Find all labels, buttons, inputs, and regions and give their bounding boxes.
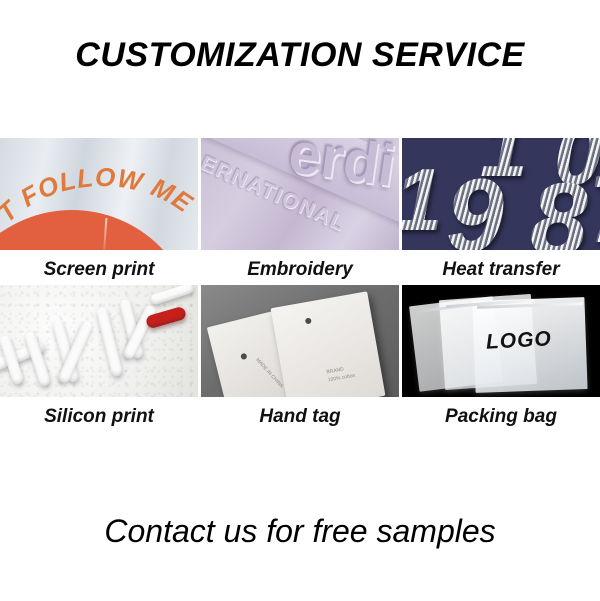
packing-bag-image: LOGO (402, 285, 600, 397)
heat-transfer-digit: 1 (402, 156, 443, 244)
hang-tag-hole (305, 317, 312, 324)
service-label-hand-tag: Hand tag (201, 397, 399, 428)
embroidery-image: erdi ERNATIONAL (201, 138, 399, 250)
customization-service-poster: CUSTOMIZATION SERVICE N'T FOLLOW ME (0, 0, 600, 601)
service-card-hand-tag[interactable]: MADE IN CHINA BRAND100% cotton Hand tag (201, 285, 399, 428)
footer-cta: Contact us for free samples (0, 513, 600, 550)
heat-transfer-digit: 7 (588, 162, 600, 250)
svg-text:N'T FOLLOW ME: N'T FOLLOW ME (0, 162, 198, 249)
gallery-row-2: Silicon print MADE IN CHINA BRAND100% co… (0, 285, 600, 428)
heat-transfer-digit: 8 (530, 168, 588, 250)
heat-transfer-digit: 9 (446, 164, 504, 250)
hang-tag-card: BRAND100% cotton (271, 291, 386, 397)
embroidery-script-text: erdi (285, 138, 399, 200)
service-label-packing-bag: Packing bag (402, 397, 600, 428)
heat-transfer-image: 1 0 1 9 8 7 (402, 138, 600, 250)
hang-tag-hole (240, 353, 247, 360)
service-label-embroidery: Embroidery (201, 250, 399, 281)
arc-text-graphic: N'T FOLLOW ME (0, 138, 198, 250)
service-card-silicon-print[interactable]: Silicon print (0, 285, 198, 428)
service-card-packing-bag[interactable]: LOGO Packing bag (402, 285, 600, 428)
service-card-screen-print[interactable]: N'T FOLLOW ME Screen print (0, 138, 198, 281)
packing-bag-logo-text: LOGO (485, 327, 552, 354)
silicon-print-image (0, 285, 198, 397)
hang-tag-print: BRAND100% cotton (326, 365, 356, 385)
service-label-heat-transfer: Heat transfer (402, 250, 600, 281)
hand-tag-image: MADE IN CHINA BRAND100% cotton (201, 285, 399, 397)
screen-print-image: N'T FOLLOW ME (0, 138, 198, 250)
page-title: CUSTOMIZATION SERVICE (0, 36, 600, 75)
gallery-row-1: N'T FOLLOW ME Screen print erdi ERNATION… (0, 138, 600, 281)
service-card-heat-transfer[interactable]: 1 0 1 9 8 7 Heat transfer (402, 138, 600, 281)
service-gallery: N'T FOLLOW ME Screen print erdi ERNATION… (0, 138, 600, 428)
service-label-silicon-print: Silicon print (0, 397, 198, 428)
service-label-screen-print: Screen print (0, 250, 198, 281)
service-card-embroidery[interactable]: erdi ERNATIONAL Embroidery (201, 138, 399, 281)
